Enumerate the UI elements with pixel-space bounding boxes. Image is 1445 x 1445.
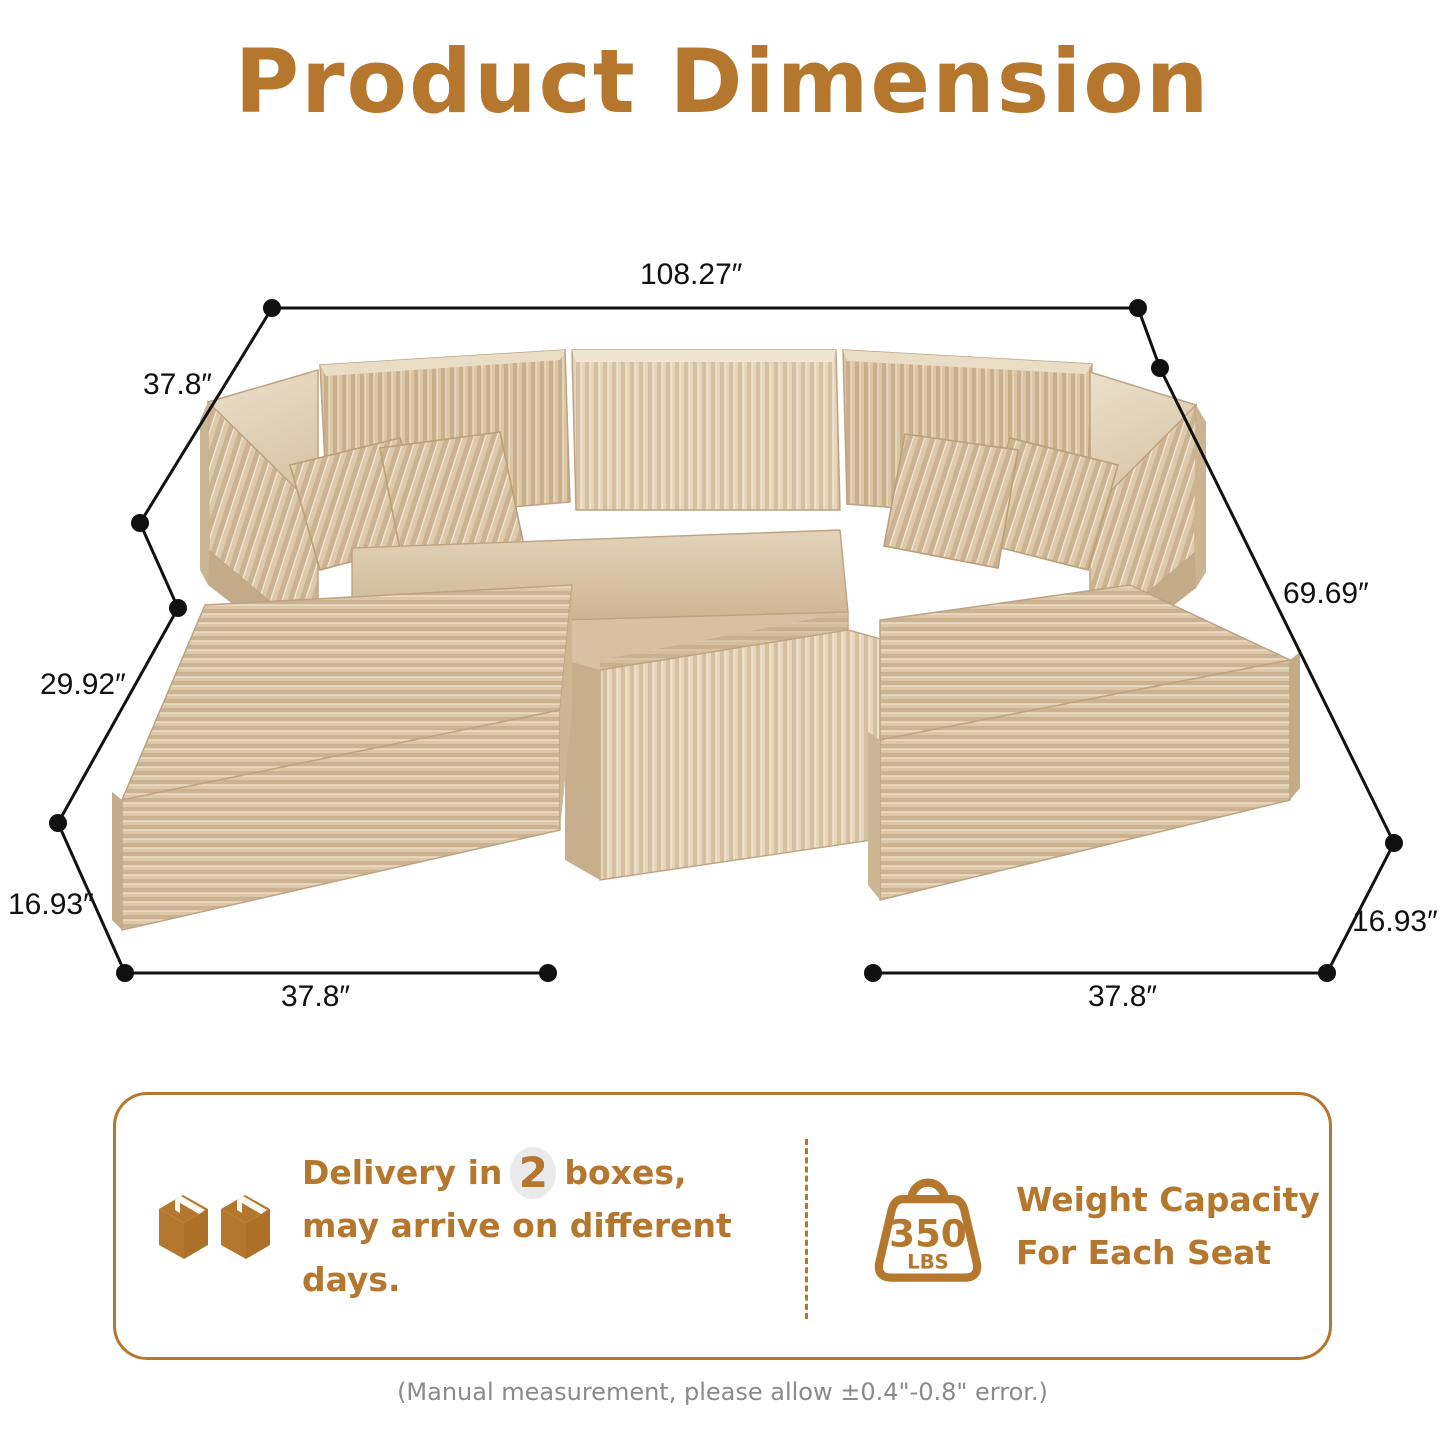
dim-dot-bottom-left — [116, 964, 134, 982]
dim-dot-left-lower — [49, 814, 67, 832]
dimension-diagram: 108.27″ 37.8″ 69.69″ 29.92″ 16.93″ 16.93… — [0, 240, 1445, 1050]
dim-dot-left-mid — [169, 599, 187, 617]
weight-info: 350 LBS Weight Capacity For Each Seat — [806, 1164, 1329, 1288]
weight-line-2: For Each Seat — [1016, 1226, 1320, 1279]
delivery-info: Delivery in 2 boxes, may arrive on diffe… — [116, 1146, 806, 1306]
weight-unit: LBS — [907, 1250, 949, 1273]
info-panel: Delivery in 2 boxes, may arrive on diffe… — [113, 1092, 1332, 1360]
weight-amount: 350 — [889, 1212, 967, 1256]
dim-label-overall-width: 108.27″ — [640, 258, 742, 292]
boxes-icon — [156, 1183, 276, 1269]
dim-dot-bottom-right — [1318, 964, 1336, 982]
dim-dot-bottom-right-start — [864, 964, 882, 982]
dim-label-chaise-width-left: 37.8″ — [281, 980, 350, 1014]
dim-label-left-depth: 37.8″ — [143, 368, 212, 402]
dim-dot-right-lower — [1385, 834, 1403, 852]
dim-dot-right-upper — [1151, 359, 1169, 377]
dim-dot-top-left — [263, 299, 281, 317]
box-count-badge: 2 — [510, 1147, 556, 1199]
dim-dot-bottom-left-end — [539, 964, 557, 982]
dim-label-seat-height-right: 16.93″ — [1352, 905, 1438, 939]
dim-label-seat-height-left: 16.93″ — [8, 888, 94, 922]
dim-dot-top-right — [1129, 299, 1147, 317]
product-dimension-infographic: Product Dimension — [0, 0, 1445, 1445]
weight-line-1: Weight Capacity — [1016, 1173, 1320, 1226]
sofa-left-chaise — [112, 585, 572, 930]
dim-label-overall-depth: 69.69″ — [1283, 577, 1369, 611]
sofa-right-chaise — [868, 585, 1300, 900]
sofa-throw-pillow-right-front — [884, 434, 1018, 568]
page-title: Product Dimension — [0, 34, 1445, 129]
delivery-text-after: boxes, — [564, 1146, 686, 1199]
delivery-text-before: Delivery in — [302, 1146, 502, 1199]
dim-label-chaise-width-right: 37.8″ — [1088, 980, 1157, 1014]
dim-dot-left-upper — [131, 514, 149, 532]
measurement-disclaimer: (Manual measurement, please allow ±0.4"-… — [0, 1378, 1445, 1406]
delivery-line-2: may arrive on different days. — [302, 1199, 806, 1306]
sofa-illustration — [0, 240, 1445, 1050]
dim-label-back-height: 29.92″ — [40, 668, 126, 702]
weight-icon: 350 LBS — [866, 1164, 990, 1288]
